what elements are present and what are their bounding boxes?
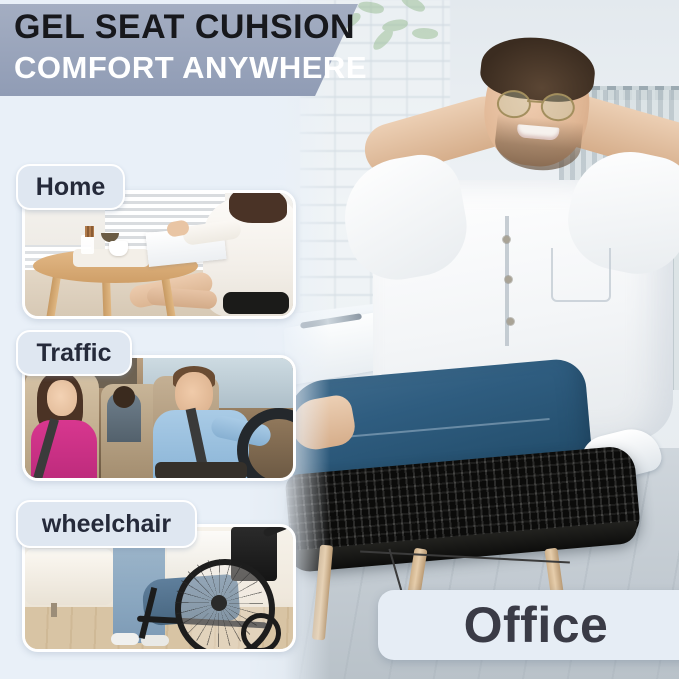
sofa — [25, 549, 113, 605]
shoe — [111, 633, 139, 645]
sofa-leg — [51, 603, 57, 617]
banner-title-primary: GEL SEAT CUHSION — [14, 8, 355, 47]
label-office-text: Office — [464, 596, 609, 654]
label-home: Home — [16, 164, 125, 210]
label-wheelchair: wheelchair — [16, 500, 197, 548]
label-traffic-text: Traffic — [36, 339, 111, 368]
pencils — [85, 226, 94, 237]
shirt-button — [503, 236, 510, 243]
shirt-button — [507, 318, 514, 325]
center-console — [155, 462, 247, 480]
beard — [493, 114, 584, 175]
product-marketing-image: GEL SEAT CUHSION COMFORT ANYWHERE — [0, 0, 679, 679]
shirt-pocket — [551, 248, 611, 302]
shirt-button — [505, 276, 512, 283]
label-wheelchair-text: wheelchair — [42, 510, 171, 539]
label-traffic: Traffic — [16, 330, 132, 376]
woman-hair — [229, 190, 287, 223]
banner-title-secondary: COMFORT ANYWHERE — [14, 50, 367, 86]
woman-face — [47, 380, 77, 416]
wheelchair-caster-wheel — [241, 613, 281, 652]
coffee-cup — [109, 241, 128, 256]
jar — [81, 235, 94, 254]
wheelchair-hub — [211, 595, 227, 611]
label-office: Office — [378, 590, 679, 660]
label-home-text: Home — [36, 173, 105, 202]
gel-cushion-on-chair — [223, 292, 289, 314]
child-head — [113, 386, 135, 408]
